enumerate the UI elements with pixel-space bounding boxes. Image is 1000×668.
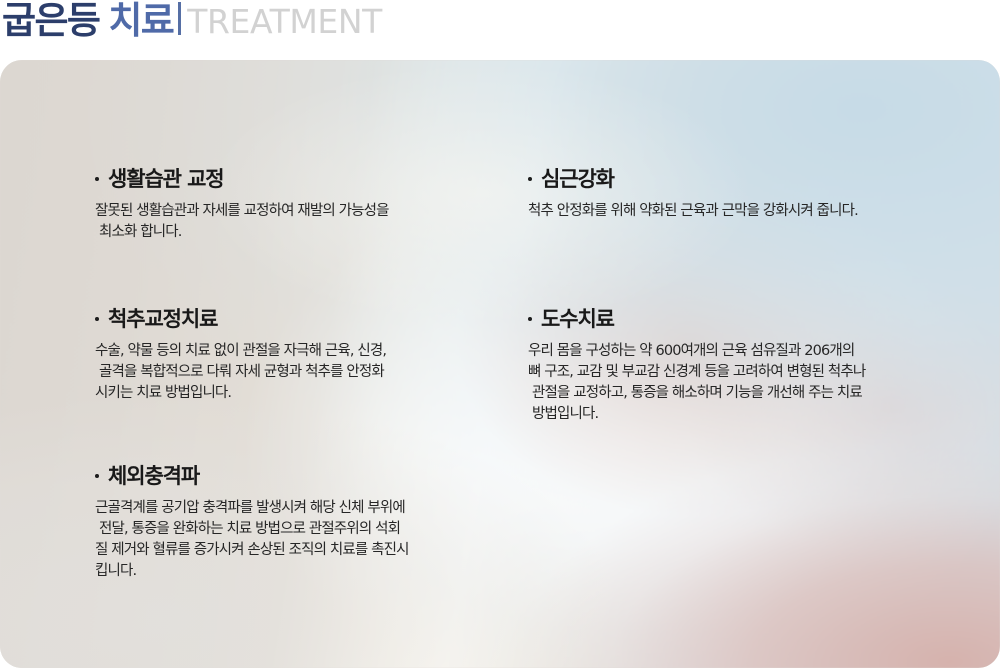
bullet-icon (528, 317, 532, 321)
bullet-icon (95, 317, 99, 321)
treatment-item-heading-text: 심근강화 (541, 168, 614, 191)
body-line: 척추 안정화를 위해 약화된 근육과 근막을 강화시켜 줍니다. (528, 201, 858, 222)
treatment-item-body: 우리 몸을 구성하는 약 600여개의 근육 섬유질과 206개의 뼈 구조, … (528, 341, 865, 425)
page-title-english: TREATMENT (187, 5, 382, 38)
treatment-item-heading: 척추교정치료 (95, 308, 386, 331)
page-title-primary: 굽은등 (2, 2, 99, 39)
treatment-item-heading: 체외충격파 (95, 465, 409, 488)
treatment-item: 체외충격파 근골격계를 공기압 충격파를 발생시켜 해당 신체 부위에 전달, … (95, 465, 409, 582)
treatment-item-heading-text: 체외충격파 (108, 465, 199, 488)
treatment-item-body: 수술, 약물 등의 치료 없이 관절을 자극해 근육, 신경, 골격을 복합적으… (95, 341, 386, 404)
treatment-item-heading: 도수치료 (528, 308, 865, 331)
body-line: 수술, 약물 등의 치료 없이 관절을 자극해 근육, 신경, (95, 341, 386, 362)
body-line: 질 제거와 혈류를 증가시켜 손상된 조직의 치료를 촉진시 (95, 540, 409, 561)
body-line: 골격을 복합적으로 다뤄 자세 균형과 척추를 안정화 (95, 362, 386, 383)
body-line: 전달, 통증을 완화하는 치료 방법으로 관절주위의 석회 (95, 519, 409, 540)
treatment-item: 도수치료 우리 몸을 구성하는 약 600여개의 근육 섬유질과 206개의 뼈… (528, 308, 865, 425)
treatment-page: 굽은등 치료 TREATMENT 생활습관 교정 잘못된 생활습관과 자세를 교… (0, 0, 1000, 668)
page-title: 굽은등 치료 TREATMENT (2, 0, 382, 39)
treatment-item-body: 잘못된 생활습관과 자세를 교정하여 재발의 가능성을 최소화 합니다. (95, 201, 389, 243)
treatment-item: 척추교정치료 수술, 약물 등의 치료 없이 관절을 자극해 근육, 신경, 골… (95, 308, 386, 404)
body-line: 잘못된 생활습관과 자세를 교정하여 재발의 가능성을 (95, 201, 389, 222)
body-line: 근골격계를 공기압 충격파를 발생시켜 해당 신체 부위에 (95, 498, 409, 519)
bullet-icon (95, 474, 99, 478)
page-header: 굽은등 치료 TREATMENT (0, 0, 1000, 60)
body-line: 관절을 교정하고, 통증을 해소하며 기능을 개선해 주는 치료 (528, 383, 865, 404)
treatment-item: 생활습관 교정 잘못된 생활습관과 자세를 교정하여 재발의 가능성을 최소화 … (95, 168, 389, 243)
treatment-item-body: 근골격계를 공기압 충격파를 발생시켜 해당 신체 부위에 전달, 통증을 완화… (95, 498, 409, 582)
body-line: 뼈 구조, 교감 및 부교감 신경계 등을 고려하여 변형된 척추나 (528, 362, 865, 383)
treatment-photo-panel: 생활습관 교정 잘못된 생활습관과 자세를 교정하여 재발의 가능성을 최소화 … (0, 60, 1000, 668)
treatment-item: 심근강화 척추 안정화를 위해 약화된 근육과 근막을 강화시켜 줍니다. (528, 168, 858, 222)
treatment-content: 생활습관 교정 잘못된 생활습관과 자세를 교정하여 재발의 가능성을 최소화 … (0, 60, 1000, 668)
treatment-item-body: 척추 안정화를 위해 약화된 근육과 근막을 강화시켜 줍니다. (528, 201, 858, 222)
body-line: 우리 몸을 구성하는 약 600여개의 근육 섬유질과 206개의 (528, 341, 865, 362)
page-title-secondary: 치료 (108, 2, 173, 39)
body-line: 방법입니다. (528, 404, 865, 425)
treatment-item-heading-text: 생활습관 교정 (108, 168, 224, 191)
body-line: 시키는 치료 방법입니다. (95, 383, 386, 404)
body-line: 최소화 합니다. (95, 222, 389, 243)
treatment-item-heading-text: 도수치료 (541, 308, 614, 331)
body-line: 킵니다. (95, 561, 409, 582)
bullet-icon (95, 177, 99, 181)
bullet-icon (528, 177, 532, 181)
treatment-item-heading-text: 척추교정치료 (108, 308, 217, 331)
treatment-item-heading: 생활습관 교정 (95, 168, 389, 191)
treatment-item-heading: 심근강화 (528, 168, 858, 191)
title-separator-bar (178, 2, 181, 35)
